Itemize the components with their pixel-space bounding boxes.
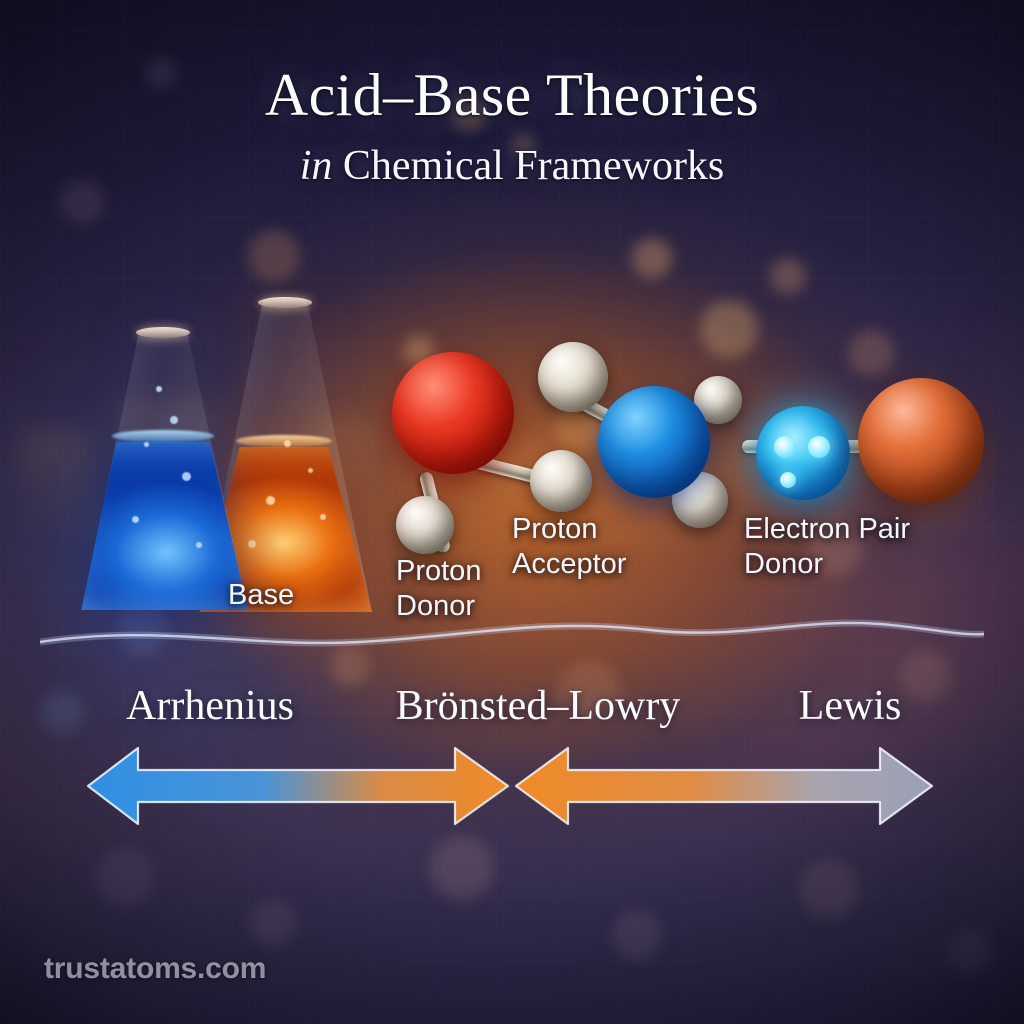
atom-hydrogen-1	[396, 496, 454, 554]
page-subtitle-rest: Chemical Frameworks	[332, 143, 724, 189]
theory-label-arrhenius: Arrhenius	[40, 682, 380, 730]
electron-dot-2	[808, 436, 830, 458]
caption-base: Base	[228, 578, 294, 613]
atom-hydrogen-3	[538, 342, 608, 412]
flask-acid-liquid-surface	[112, 430, 214, 442]
atom-nitrogen	[598, 386, 710, 498]
flask-acid-lip	[136, 327, 190, 338]
caption-proton-acceptor: Proton Acceptor	[512, 512, 626, 583]
spectrum-arrows	[0, 736, 1024, 836]
theory-label-bronsted-lowry: Brönsted–Lowry	[348, 682, 728, 730]
page-subtitle: in Chemical Frameworks	[0, 142, 1024, 190]
caption-electron-pair-donor: Electron Pair Donor	[744, 512, 910, 583]
page-subtitle-italic: in	[300, 143, 333, 189]
infographic-poster: Acid–Base Theories in Chemical Framework…	[0, 0, 1024, 1024]
atom-electron-pair-acceptor	[858, 378, 984, 504]
page-title: Acid–Base Theories	[0, 64, 1024, 126]
arrow-right	[516, 748, 932, 824]
title-block: Acid–Base Theories in Chemical Framework…	[0, 64, 1024, 190]
arrow-left	[88, 748, 508, 824]
electron-dot-1	[774, 436, 796, 458]
atom-oxygen	[392, 352, 514, 474]
theory-label-lewis: Lewis	[700, 682, 1000, 730]
atom-hydrogen-2	[530, 450, 592, 512]
watermark: trustatoms.com	[44, 952, 266, 986]
flask-base-lip	[258, 297, 312, 308]
flask-acid-liquid	[78, 442, 248, 610]
atom-electron-pair-donor	[756, 406, 850, 500]
wavy-divider	[40, 612, 984, 662]
flask-acid	[78, 330, 248, 610]
electron-dot-3	[780, 472, 796, 488]
